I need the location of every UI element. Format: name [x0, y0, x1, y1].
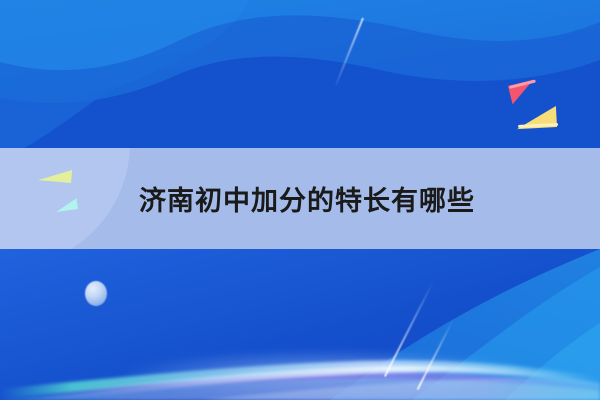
- glowing-sphere-icon: [85, 281, 107, 306]
- banner-top-section: [0, 0, 600, 148]
- banner-bottom-section: [0, 249, 600, 400]
- page-title: 济南初中加分的特长有哪些: [0, 148, 600, 249]
- aurora-graphic: [0, 249, 600, 400]
- banner-title-section: 济南初中加分的特长有哪些: [0, 148, 600, 249]
- blue-wave-graphic: [0, 0, 600, 148]
- yellow-green-triangle-icon: [38, 167, 72, 183]
- banner-image: 济南初中加分的特长有哪些: [0, 0, 600, 400]
